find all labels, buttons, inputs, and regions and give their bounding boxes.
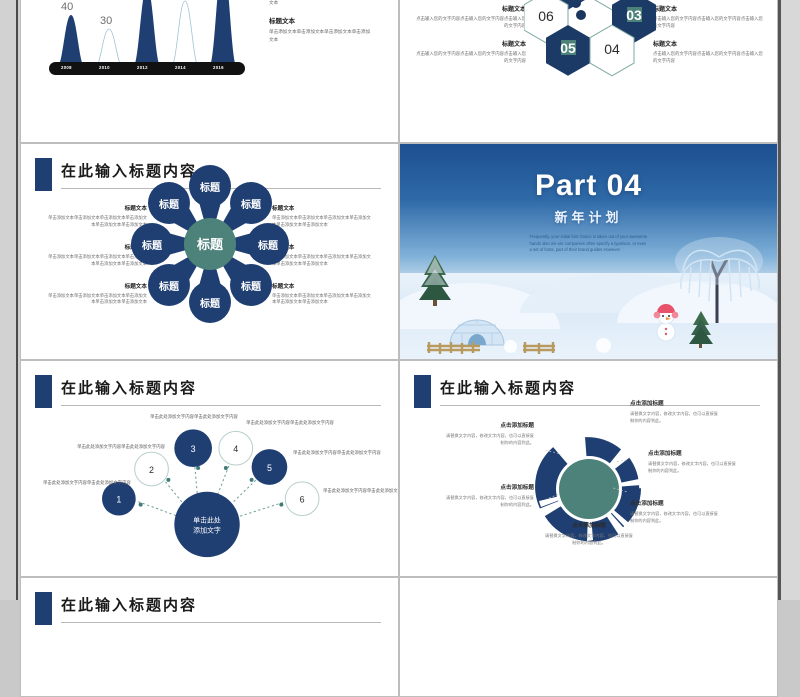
- small-pine-tree-icon: [688, 309, 714, 349]
- bell-tick-4: 2016: [213, 65, 224, 70]
- node-center-line-1: 单击此处: [193, 515, 221, 524]
- slide-6-donut-diagram[interactable]: 在此输入标题内容: [399, 360, 778, 577]
- node-number-3: 3: [191, 444, 196, 454]
- node-number-5: 5: [267, 463, 272, 473]
- right-gutter: [778, 0, 800, 600]
- hex-item-heading: 标题文本: [653, 39, 765, 48]
- donut-callout-body: 请替换文字内容，修改文字内容，也可以直接复制你的内容到此。: [543, 533, 635, 546]
- petal-label-0: 标题: [199, 181, 221, 194]
- hex-item-body: 点击输入您的文字内容点击输入您的文字内容点击输入您的文字内容: [414, 16, 526, 29]
- bell-value-label-0: 40: [61, 1, 73, 13]
- hexagon-area: 标题文本 点击输入您的文字内容点击输入您的文字内容点击输入您的文字内容 标题文本…: [400, 0, 778, 116]
- donut-callout-body: 请替换文字内容，修改文字内容，也可以直接复制你的内容到此。: [648, 461, 740, 474]
- slide-5-node-diagram[interactable]: 在此输入标题内容 单击此处 添: [20, 360, 399, 577]
- slide-deck-page: 40 30 60 50 2008 2010 2012 2014 2016 标题文…: [0, 0, 800, 600]
- slide-2-hexagon-diagram[interactable]: 标题文本 点击输入您的文字内容点击输入您的文字内容点击输入您的文字内容 标题文本…: [399, 0, 778, 143]
- hex-text-item[interactable]: 标题文本 点击输入您的文字内容点击输入您的文字内容点击输入您的文字内容: [653, 39, 765, 64]
- slide-7-header: 在此输入标题内容: [21, 592, 398, 628]
- title-underline: [61, 622, 381, 623]
- donut-callout-2[interactable]: 点击添加标题 请替换文字内容，修改文字内容，也可以直接复制你的内容到此。: [442, 483, 534, 508]
- petal-label-1: 标题: [240, 198, 262, 211]
- hex-text-item[interactable]: 标题文本 点击输入您的文字内容点击输入您的文字内容点击输入您的文字内容: [653, 4, 765, 29]
- node-number-1: 1: [116, 495, 121, 505]
- hex-item-heading: 标题文本: [414, 39, 526, 48]
- donut-callout-body: 请替换文字内容，修改文字内容，也可以直接复制你的内容到此。: [630, 411, 722, 424]
- donut-callout-5[interactable]: 点击添加标题 请替换文字内容，修改文字内容，也可以直接复制你的内容到此。: [648, 449, 740, 474]
- donut-callout-body: 请替换文字内容，修改文字内容，也可以直接复制你的内容到此。: [442, 495, 534, 508]
- pine-tree-icon: [418, 253, 452, 307]
- donut-callout-1[interactable]: 点击添加标题 请替换文字内容，修改文字内容，也可以直接复制你的内容到此。: [442, 421, 534, 446]
- slide-3-radial-diagram[interactable]: 在此输入标题内容 标题文本 单击添加文本单击添加文本单击添加文本单击添加文本单击…: [20, 143, 399, 360]
- section-subtitle: 新年计划: [400, 207, 777, 226]
- bell-tick-3: 2014: [175, 65, 186, 70]
- node-caption-3: 单击此处添加文字内容单击此处添加文字内容: [148, 413, 240, 420]
- title-accent-bar: [35, 592, 52, 625]
- donut-callout-6[interactable]: 点击添加标题 请替换文字内容，修改文字内容，也可以直接复制你的内容到此。: [630, 499, 722, 524]
- page-title: 在此输入标题内容: [61, 594, 197, 615]
- section-body-text: Frequently, your initial font choice is …: [530, 234, 648, 254]
- hex-text-item[interactable]: 标题文本 点击输入您的文字内容点击输入您的文字内容点击输入您的文字内容: [414, 39, 526, 64]
- donut-callout-heading: 点击添加标题: [630, 399, 722, 407]
- petal-label-5: 标题: [158, 280, 180, 293]
- donut-callout-heading: 点击添加标题: [543, 521, 635, 529]
- donut-callout-heading: 点击添加标题: [442, 421, 534, 429]
- bell-chart-axis: 2008 2010 2012 2014 2016: [49, 62, 245, 75]
- node-caption-2: 单击此处添加文字内容单击此处添加文字内容: [73, 443, 165, 450]
- hex-item-body: 点击输入您的文字内容点击输入您的文字内容点击输入您的文字内容: [414, 51, 526, 64]
- frosted-tree-icon: [671, 231, 767, 323]
- node-caption-5: 单击此处添加文字内容单击此处添加文字内容: [293, 449, 385, 456]
- bell-tick-0: 2008: [61, 65, 72, 70]
- node-caption-6: 单击此处添加文字内容单击此处添加文字内容: [323, 487, 399, 494]
- donut-callout-3[interactable]: 点击添加标题 请替换文字内容，修改文字内容，也可以直接复制你的内容到此。: [543, 521, 635, 546]
- bell-chart: 40 30 60 50 2008 2010 2012 2014 2016: [37, 0, 257, 85]
- hex-number-04: 04: [604, 41, 620, 57]
- left-gutter: [0, 0, 18, 600]
- slide-deck: 40 30 60 50 2008 2010 2012 2014 2016 标题文…: [20, 0, 778, 600]
- donut-callout-body: 请替换文字内容，修改文字内容，也可以直接复制你的内容到此。: [442, 433, 534, 446]
- slide-1-bell-chart[interactable]: 40 30 60 50 2008 2010 2012 2014 2016 标题文…: [20, 0, 399, 143]
- slide-8-partial[interactable]: [399, 577, 778, 697]
- fence-icon: [522, 339, 556, 355]
- node-number-2: 2: [149, 465, 154, 475]
- slide-1-text-column: 标题文本 单击添加文本单击添加文本单击添加文本单击添加文本 标题文本 单击添加文…: [269, 0, 394, 52]
- flower-center-label: 标题: [195, 237, 223, 252]
- fence-icon: [426, 339, 482, 355]
- hex-number-03: 03: [626, 7, 642, 23]
- donut-callout-heading: 点击添加标题: [630, 499, 722, 507]
- donut-callout-heading: 点击添加标题: [648, 449, 740, 457]
- hex-item-heading: 标题文本: [653, 4, 765, 13]
- node-caption-4: 单击此处添加文字内容单击此处添加文字内容: [244, 419, 336, 426]
- hex-left-column: 标题文本 点击输入您的文字内容点击输入您的文字内容点击输入您的文字内容 标题文本…: [414, 0, 526, 75]
- node-caption-1: 单击此处添加文字内容单击此处添加文字内容: [43, 479, 135, 486]
- node-number-4: 4: [233, 444, 238, 454]
- flower-diagram-svg[interactable]: 标题 标题 标题 标题 标题 标题 标题 标题 标题: [130, 164, 290, 324]
- donut-callout-4[interactable]: 点击添加标题 请替换文字内容，修改文字内容，也可以直接复制你的内容到此。: [630, 399, 722, 424]
- petal-label-6: 标题: [141, 239, 163, 252]
- hex-item-body: 点击输入您的文字内容点击输入您的文字内容点击输入您的文字内容: [653, 16, 765, 29]
- bell-tick-1: 2010: [99, 65, 110, 70]
- petal-label-3: 标题: [240, 280, 262, 293]
- winter-background: Part 04 新年计划 Frequently, your initial fo…: [400, 144, 777, 359]
- slide-4-section-cover[interactable]: Part 04 新年计划 Frequently, your initial fo…: [399, 143, 778, 360]
- text-block-body: 单击添加文本单击添加文本单击添加文本单击添加文本: [269, 28, 374, 42]
- hex-right-column: 标题文本 点击输入您的文字内容点击输入您的文字内容点击输入您的文字内容 标题文本…: [653, 0, 765, 75]
- petal-label-7: 标题: [158, 198, 180, 211]
- text-block[interactable]: 标题文本 单击添加文本单击添加文本单击添加文本单击添加文本: [269, 15, 394, 42]
- text-block-heading: 标题文本: [269, 15, 394, 25]
- hex-item-heading: 标题文本: [414, 4, 526, 13]
- text-block[interactable]: 标题文本 单击添加文本单击添加文本单击添加文本单击添加文本: [269, 0, 394, 6]
- hex-number-06: 06: [538, 8, 554, 24]
- title-accent-bar: [35, 158, 52, 191]
- snowman-icon: [653, 303, 679, 343]
- node-diagram-svg[interactable]: 单击此处 添加文字 1 2 3 4 5 6: [21, 361, 398, 576]
- bell-tick-2: 2012: [137, 65, 148, 70]
- node-number-6: 6: [300, 495, 305, 505]
- node-center-line-2: 添加文字: [193, 525, 221, 534]
- donut-callout-heading: 点击添加标题: [442, 483, 534, 491]
- petal-label-4: 标题: [199, 297, 221, 310]
- snowball: [504, 340, 517, 353]
- petal-label-2: 标题: [257, 239, 279, 252]
- section-number-title: Part 04: [400, 169, 777, 203]
- hex-item-body: 点击输入您的文字内容点击输入您的文字内容点击输入您的文字内容: [653, 51, 765, 64]
- donut-callout-body: 请替换文字内容，修改文字内容，也可以直接复制你的内容到此。: [630, 511, 722, 524]
- hex-text-item[interactable]: 标题文本 点击输入您的文字内容点击输入您的文字内容点击输入您的文字内容: [414, 4, 526, 29]
- snowball: [596, 338, 611, 353]
- slide-7-partial[interactable]: 在此输入标题内容: [20, 577, 399, 697]
- bell-value-label-1: 30: [100, 15, 112, 27]
- text-block-body: 单击添加文本单击添加文本单击添加文本单击添加文本: [269, 0, 374, 6]
- hex-number-05: 05: [560, 40, 576, 56]
- hexagon-cluster-svg[interactable]: 01 02 06 03 05: [524, 0, 656, 77]
